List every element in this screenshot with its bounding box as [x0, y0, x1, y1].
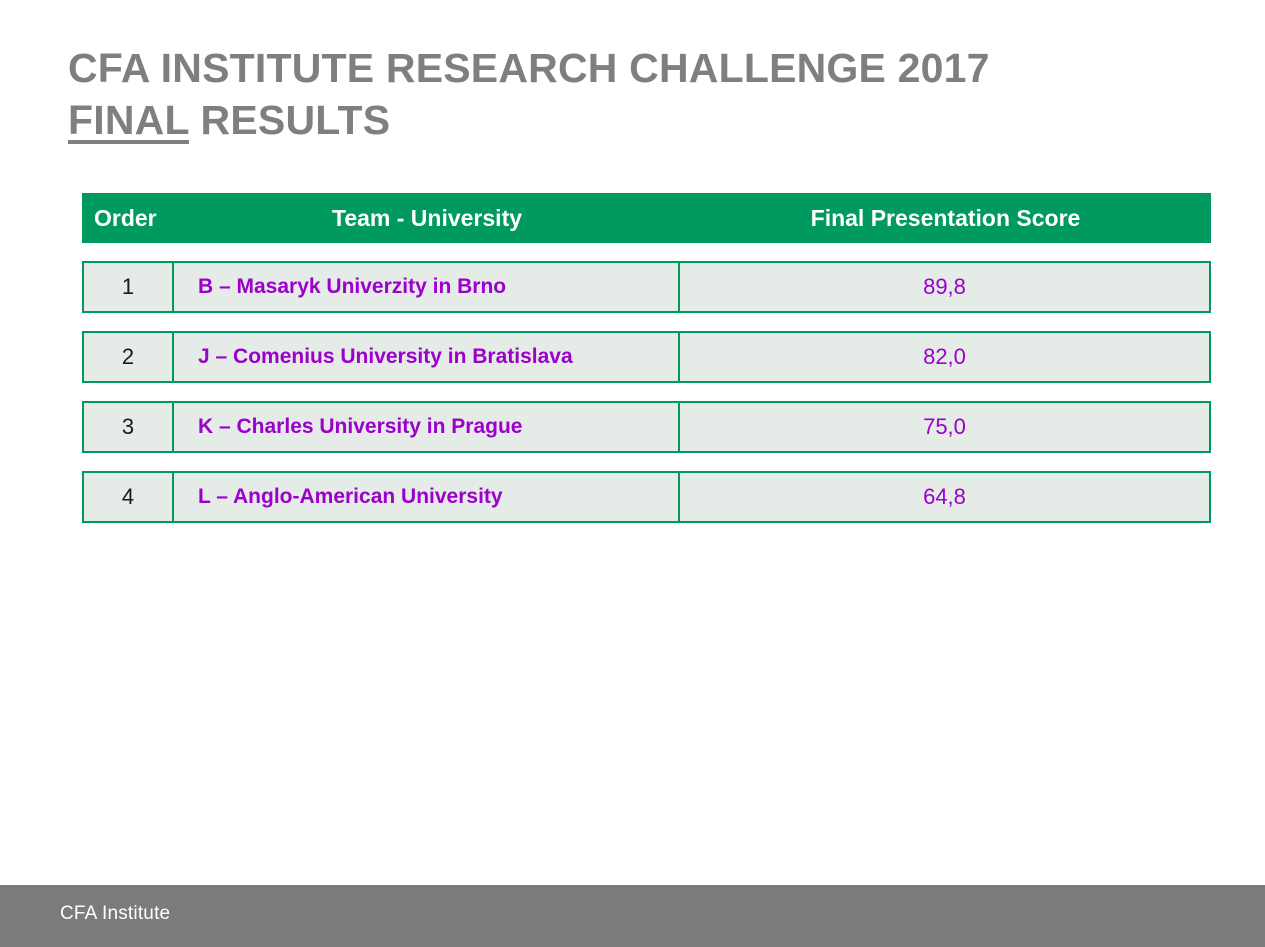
footer-brand-label: CFA Institute: [60, 903, 170, 925]
row-spacer: [82, 243, 1211, 261]
row-spacer: [82, 383, 1211, 401]
cell-order: 2: [82, 331, 174, 383]
cell-score: 64,8: [680, 471, 1211, 523]
page-title-line-1: CFA INSTITUTE RESEARCH CHALLENGE 2017: [68, 42, 1198, 94]
table-row: 1 B – Masaryk Univerzity in Brno 89,8: [82, 261, 1211, 313]
page-title-emphasis: FINAL: [68, 97, 189, 143]
row-spacer: [82, 453, 1211, 471]
page-title-line-2-rest: RESULTS: [189, 97, 390, 143]
column-header-final-presentation-score: Final Presentation Score: [680, 205, 1211, 232]
footer-bar: CFA Institute: [0, 885, 1265, 947]
cell-order: 1: [82, 261, 174, 313]
cell-team: B – Masaryk Univerzity in Brno: [174, 261, 680, 313]
row-spacer: [82, 313, 1211, 331]
cell-score: 89,8: [680, 261, 1211, 313]
table-header-row: Order Team - University Final Presentati…: [82, 193, 1211, 243]
column-header-order: Order: [82, 205, 174, 232]
cell-team: K – Charles University in Prague: [174, 401, 680, 453]
cell-score: 75,0: [680, 401, 1211, 453]
cell-order: 4: [82, 471, 174, 523]
cell-order: 3: [82, 401, 174, 453]
cell-team: L – Anglo-American University: [174, 471, 680, 523]
cell-team: J – Comenius University in Bratislava: [174, 331, 680, 383]
page-title-line-2: FINAL RESULTS: [68, 94, 1198, 146]
table-row: 3 K – Charles University in Prague 75,0: [82, 401, 1211, 453]
column-header-team-university: Team - University: [174, 205, 680, 232]
results-table: Order Team - University Final Presentati…: [82, 193, 1211, 523]
table-row: 2 J – Comenius University in Bratislava …: [82, 331, 1211, 383]
slide-canvas: CFA INSTITUTE RESEARCH CHALLENGE 2017 FI…: [0, 0, 1265, 947]
cell-score: 82,0: [680, 331, 1211, 383]
page-title: CFA INSTITUTE RESEARCH CHALLENGE 2017 FI…: [68, 42, 1198, 146]
table-row: 4 L – Anglo-American University 64,8: [82, 471, 1211, 523]
